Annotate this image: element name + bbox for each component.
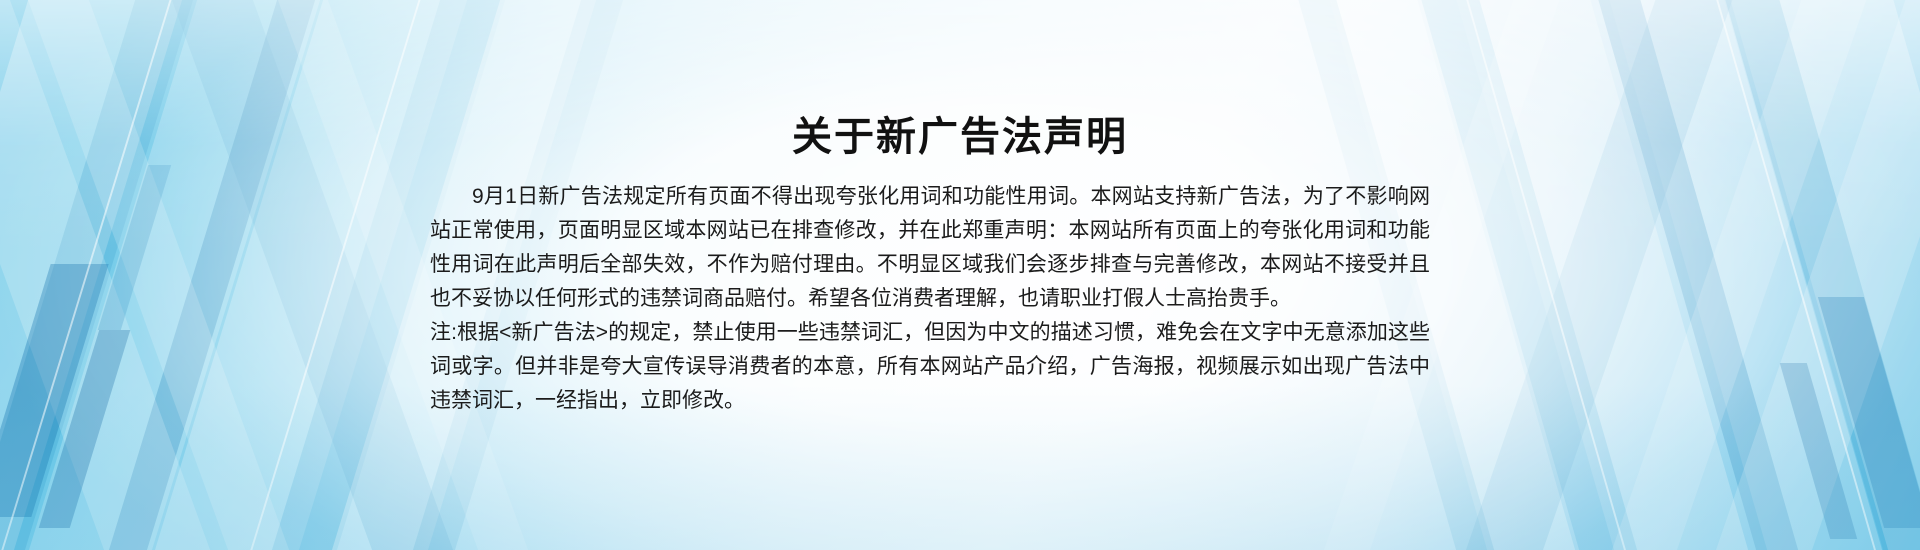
- statement-content: 关于新广告法声明 9月1日新广告法规定所有页面不得出现夸张化用词和功能性用词。本…: [430, 0, 1490, 550]
- statement-body: 9月1日新广告法规定所有页面不得出现夸张化用词和功能性用词。本网站支持新广告法，…: [430, 180, 1430, 418]
- page-title: 关于新广告法声明: [430, 113, 1490, 161]
- statement-paragraph-2: 注:根据<新广告法>的规定，禁止使用一些违禁词汇，但因为中文的描述习惯，难免会在…: [430, 316, 1430, 418]
- advertising-law-statement-banner: 关于新广告法声明 9月1日新广告法规定所有页面不得出现夸张化用词和功能性用词。本…: [0, 0, 1920, 550]
- statement-paragraph-1: 9月1日新广告法规定所有页面不得出现夸张化用词和功能性用词。本网站支持新广告法，…: [430, 180, 1430, 316]
